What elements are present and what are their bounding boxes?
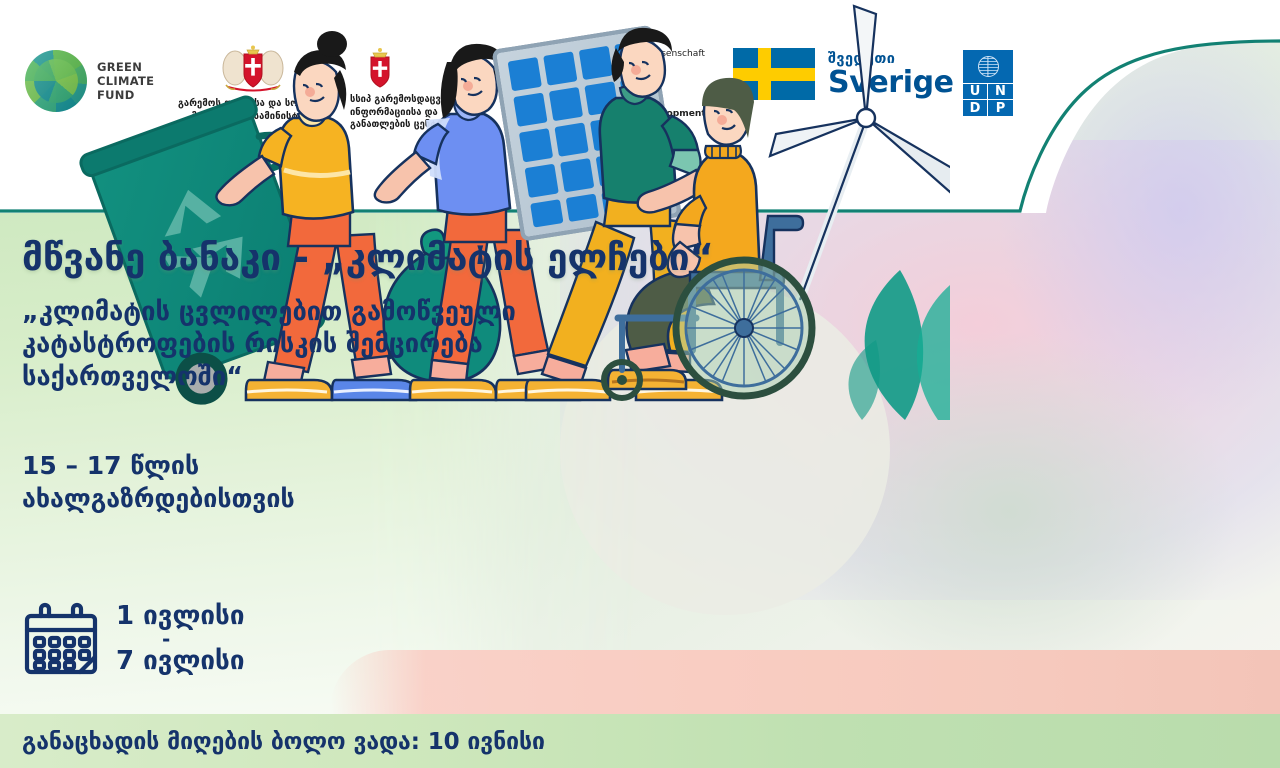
undp-letters: U N D P [963,83,1013,116]
leaf-plant-icon [848,270,950,420]
date-block: 1 ივლისი - 7 ივლისი [22,600,244,678]
date-end: 7 ივლისი [116,647,244,676]
undp-letter-p: P [988,100,1013,116]
age-range: 15 – 17 წლის ახალგაზრდებისთვის [22,450,295,515]
undp-letter-u: U [963,84,988,100]
date-range: 1 ივლისი - 7 ივლისი [116,602,244,675]
subtitle-line-1: „კლიმატის ცვლილებით გამოწვეული [22,296,516,328]
date-start: 1 ივლისი [116,602,244,631]
undp-letter-n: N [988,84,1013,100]
wind-turbine-icon [770,6,950,300]
un-globe-icon [963,50,1013,83]
calendar-icon [22,600,100,678]
age-line-2: ახალგაზრდებისთვის [22,483,295,516]
project-subtitle: „კლიმატის ცვლილებით გამოწვეული კატასტროფ… [22,296,516,393]
subtitle-line-3: საქართველოში“ [22,361,516,393]
application-deadline: განაცხადის მიღების ბოლო ვადა: 10 ივნისი [22,729,545,755]
age-line-1: 15 – 17 წლის [22,450,295,483]
poster-canvas: GREEN CLIMATE FUND გარემოს დაცვისა და სო… [0,0,1280,768]
date-separator: - [162,632,244,646]
ground-strip [330,650,1280,718]
undp-mark: U N D P [963,50,1013,116]
page-title: მწვანე ბანაკი - „კლიმატის ელჩები“ [22,236,714,279]
subtitle-line-2: კატასტროფების რისკის შემცირება [22,328,516,360]
logo-undp: U N D P [963,50,1013,116]
undp-letter-d: D [963,100,988,116]
